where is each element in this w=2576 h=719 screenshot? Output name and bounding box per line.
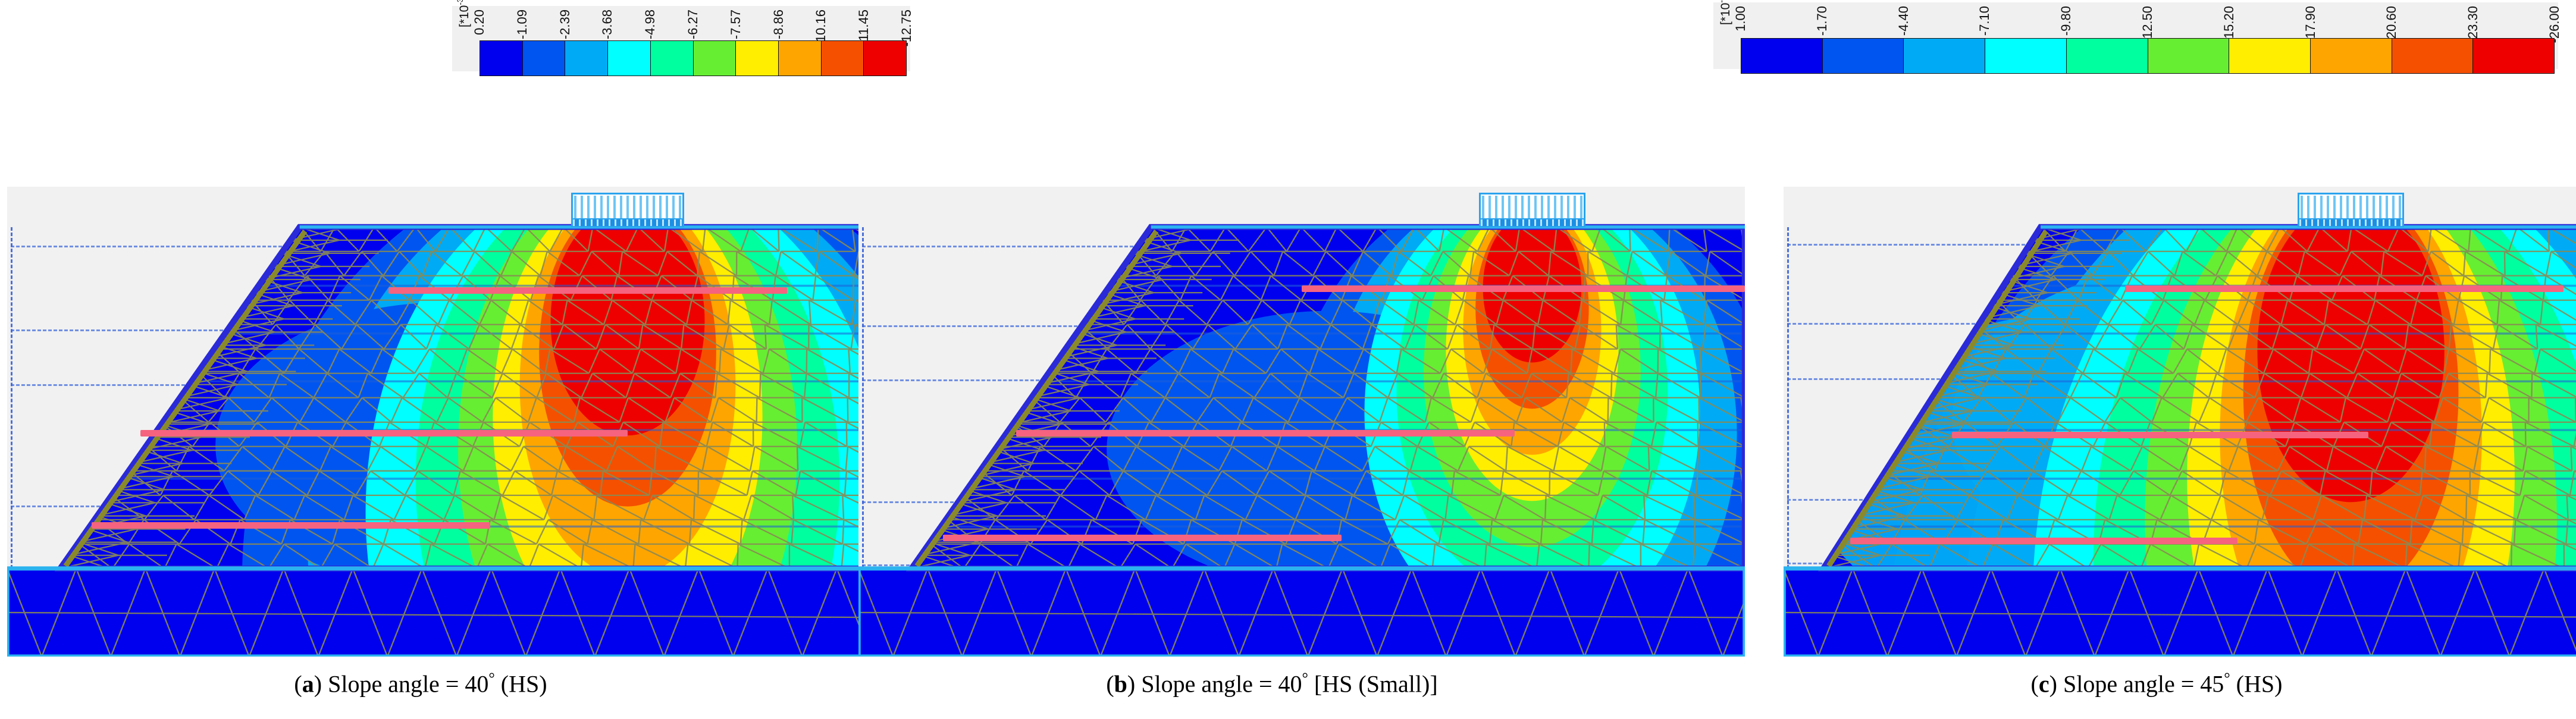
geogrid-reinforcement-layer	[92, 522, 491, 529]
load-baseplate	[572, 218, 684, 227]
legend-swatch-9	[864, 41, 906, 76]
load-baseplate	[1480, 218, 1585, 227]
geogrid-reinforcement-layer	[1850, 538, 2237, 544]
legend-swatch-5	[694, 41, 737, 76]
fe-mesh-and-contours	[1784, 187, 2576, 657]
distributed-load-symbol	[571, 193, 685, 227]
legend-swatch-8	[822, 41, 864, 76]
legend-tick-1: -1.09	[516, 10, 529, 39]
legend-swatch-1	[1823, 39, 1904, 73]
legend-swatch-2	[1904, 39, 1985, 73]
legend-tick-4: -4.98	[644, 10, 657, 39]
legend-unit-label: [*10-3 m]	[1717, 0, 1732, 25]
legend-tick-3: -7.10	[1978, 6, 1991, 36]
legend-tick-2: -2.39	[559, 10, 572, 39]
legend-swatch-6	[2229, 39, 2311, 73]
geogrid-reinforcement-layer	[1952, 432, 2368, 438]
figure-panel-a	[7, 187, 894, 657]
legend-tick-2: -4.40	[1897, 6, 1910, 36]
colorbar-legend-ab: [*10-3 m] 0.20-1.09-2.39-3.68-4.98-6.27-…	[452, 6, 910, 71]
legend-color-swatches	[480, 40, 907, 76]
legend-tick-6: -7.57	[729, 10, 742, 39]
legend-swatch-4	[2067, 39, 2148, 73]
legend-swatch-4	[651, 41, 694, 76]
legend-tick-4: -9.80	[2060, 6, 2073, 36]
legend-swatch-7	[779, 41, 822, 76]
panel-canvas	[858, 187, 1745, 657]
fe-mesh-and-contours	[7, 187, 894, 657]
panel-canvas	[7, 187, 894, 657]
geogrid-reinforcement-layer	[2125, 285, 2564, 292]
legend-tick-0: 1.00	[1734, 6, 1747, 32]
geogrid-reinforcement-layer	[388, 287, 788, 294]
fe-mesh-and-contours	[858, 187, 1745, 657]
panel-canvas	[1784, 187, 2576, 657]
caption-c: (c) Slope angle = 45° (HS)	[1743, 670, 2570, 698]
figure-panel-c	[1784, 187, 2576, 657]
load-hatching	[2301, 196, 2401, 218]
legend-swatch-9	[2473, 39, 2554, 73]
legend-unit-label: [*10-3 m]	[456, 0, 471, 27]
legend-swatch-7	[2311, 39, 2392, 73]
legend-swatch-3	[608, 41, 651, 76]
legend-tick-5: -6.27	[687, 10, 700, 39]
caption-a: (a) Slope angle = 40° (HS)	[7, 670, 834, 698]
legend-swatch-0	[480, 41, 523, 76]
legend-swatch-3	[1985, 39, 2067, 73]
legend-swatch-8	[2392, 39, 2474, 73]
legend-swatch-6	[736, 41, 779, 76]
colorbar-legend-c: [*10-3 m] 1.00-1.70-4.40-7.10-9.80-12.50…	[1713, 2, 2558, 69]
legend-tick-3: -3.68	[601, 10, 614, 39]
caption-b: (b) Slope angle = 40° [HS (Small)]	[858, 670, 1685, 698]
legend-tick-1: -1.70	[1816, 6, 1829, 36]
legend-color-swatches	[1741, 38, 2555, 74]
legend-tick-7: -8.86	[772, 10, 785, 39]
load-baseplate	[2298, 218, 2403, 227]
geogrid-reinforcement-layer	[943, 535, 1342, 541]
legend-swatch-5	[2148, 39, 2230, 73]
geogrid-reinforcement-layer	[1302, 285, 1745, 292]
distributed-load-symbol	[2298, 193, 2404, 227]
figure-panel-b	[858, 187, 1745, 657]
legend-swatch-0	[1741, 39, 1823, 73]
distributed-load-symbol	[1479, 193, 1585, 227]
legend-tick-0: 0.20	[473, 10, 486, 35]
geogrid-reinforcement-layer	[1016, 430, 1514, 437]
geogrid-reinforcement-layer	[140, 430, 628, 437]
legend-swatch-1	[523, 41, 566, 76]
legend-swatch-2	[565, 41, 608, 76]
load-hatching	[574, 196, 682, 218]
load-hatching	[1482, 196, 1582, 218]
